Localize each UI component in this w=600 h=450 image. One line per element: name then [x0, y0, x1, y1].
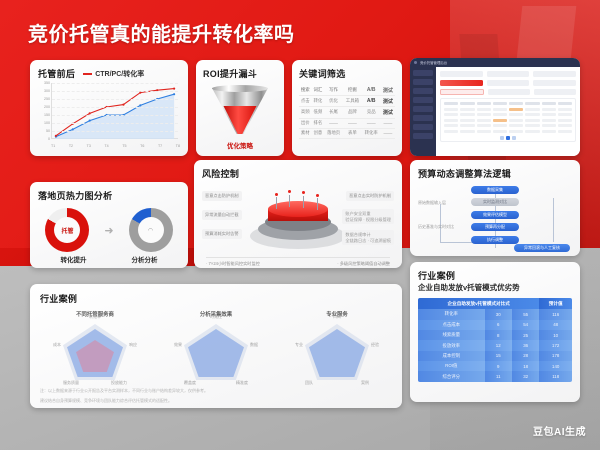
- table-cell: 落地页: [324, 128, 343, 138]
- table-cell: 8: [485, 330, 512, 340]
- arrow-right-icon: ➜: [104, 224, 113, 237]
- risk-label-right-1: 恶意点击实时防护机制: [346, 191, 394, 201]
- dashboard-window-title: 竞价托管管理后台: [420, 60, 447, 65]
- card-budget-algorithm: 预算动态调整算法逻辑 数据采集 实时监测对比 效果评估模型 预算再分配 执行调整…: [410, 160, 580, 256]
- table-cell: 高频: [299, 107, 312, 118]
- table-cell: 12: [485, 340, 512, 350]
- radar-chart: 不同托管服务商成本响应服务质量投放能力转化率: [40, 310, 150, 384]
- page-title: 竞价托管真的能提升转化率吗: [28, 18, 295, 47]
- flow-node-5[interactable]: 执行调整: [471, 236, 519, 244]
- radar-grid: [57, 320, 133, 384]
- radar-series-primary: [188, 329, 244, 377]
- y-tick: 50: [46, 129, 50, 133]
- radar-polygon-area: 效果数据覆盖度精准度时效性: [178, 320, 254, 384]
- page-button[interactable]: [512, 136, 516, 140]
- table-row[interactable]: [444, 124, 572, 127]
- radar-grid: [299, 320, 375, 384]
- risk-footer-left: · 7×24小时智能风控实时监控: [206, 261, 260, 267]
- radar-row: 不同托管服务商成本响应服务质量投放能力转化率分析采集效果效果数据覆盖度精准度时效…: [40, 310, 392, 384]
- radar-axis-label: 响应: [129, 342, 137, 348]
- table-cell: ——: [343, 118, 362, 128]
- table-cell: 创意: [312, 128, 325, 138]
- table-row: 点击成本65448: [418, 320, 572, 330]
- line-chart-title: 托管前后: [38, 67, 75, 80]
- table-row: 线索质量82510: [418, 330, 572, 340]
- table-cell: 转化率: [418, 309, 485, 319]
- flow-node-1[interactable]: 数据采集: [471, 186, 519, 194]
- radar-axis-label: 效果: [174, 342, 182, 348]
- radar-axis-label: 数据: [250, 342, 258, 348]
- table-cell: 18: [512, 361, 539, 371]
- card-risk-control: 风险控制 恶意点击防护机制 异常流量自动拦截 预算消耗实时告警 恶意点击实时防护…: [194, 160, 402, 268]
- y-tick: 250: [44, 97, 50, 101]
- table-cell: 测试: [381, 107, 395, 118]
- highlight-chip[interactable]: [440, 80, 483, 86]
- table-row[interactable]: [444, 119, 572, 122]
- table-row: 点击转化优化工具箱A/B测试: [299, 96, 395, 107]
- table-header-row: 企业自助发放v托管模式对比式预计值: [418, 298, 572, 309]
- data-point: [173, 88, 175, 90]
- pagination[interactable]: [444, 136, 572, 140]
- funnel-fill-icon: [224, 106, 257, 134]
- line-chart-plot: 350300250200150100500 T1T2T3T4T5T6T7T8: [38, 83, 180, 147]
- donut-caption-right: 分析分析: [132, 254, 158, 264]
- sidebar-item[interactable]: [413, 133, 433, 139]
- flow-node-2[interactable]: 实时监测对比: [471, 198, 519, 206]
- card-heatmap-analysis: 落地页热力图分析 托管 ➜ ◠ 转化提升 分析分析: [30, 182, 188, 268]
- table-cell: 48: [539, 320, 572, 330]
- table-cell: 出价: [299, 118, 312, 128]
- radar-polygon-area: 专业经验团队案例口碑: [299, 320, 375, 384]
- radar-axis-label: 精准度: [236, 380, 248, 386]
- funnel-graphic: 优化策略: [203, 84, 277, 152]
- risk-diagram: 恶意点击防护机制 异常流量自动拦截 预算消耗实时告警 恶意点击实时防护机制 账户…: [202, 183, 394, 267]
- dashboard-sidebar[interactable]: [410, 67, 436, 156]
- filter-chip[interactable]: [487, 71, 530, 77]
- table-cell: 10: [539, 330, 572, 340]
- table-row: 综合评分1132118: [418, 371, 572, 381]
- table-cell: 工具箱: [343, 96, 362, 107]
- table-cell: 172: [539, 340, 572, 350]
- flow-node-side[interactable]: 异常回滚与人工复核: [514, 244, 570, 252]
- flow-connector-right: [553, 198, 554, 242]
- card-dashboard-screenshot: 竞价托管管理后台: [410, 58, 580, 156]
- y-tick: 200: [44, 105, 50, 109]
- table-cell: 品牌: [343, 107, 362, 118]
- sidebar-item[interactable]: [413, 88, 433, 94]
- radar-axis-label: 服务质量: [63, 380, 79, 386]
- x-tick: T4: [104, 144, 108, 148]
- filter-chip[interactable]: [534, 89, 576, 95]
- radar-chart: 分析采集效果效果数据覆盖度精准度时效性: [161, 310, 271, 384]
- watermark: 豆包AI生成: [533, 423, 586, 438]
- table-row: 转化率3055116: [418, 309, 572, 319]
- table-row: ROI值918140: [418, 361, 572, 371]
- funnel-rim-icon: [212, 85, 268, 92]
- data-point: [55, 135, 57, 137]
- table-cell: 36: [512, 340, 539, 350]
- x-tick: T8: [176, 144, 180, 148]
- dashboard-data-table: [440, 98, 576, 142]
- table-row[interactable]: [444, 108, 572, 111]
- table-row: 搜索词汇写作挖掘A/B测试: [299, 85, 395, 96]
- table-cell: 9: [485, 361, 512, 371]
- filter-chip[interactable]: [440, 71, 483, 77]
- table-row[interactable]: [444, 113, 572, 116]
- radar-axis-label: 成本: [53, 342, 61, 348]
- x-tick: T1: [51, 144, 55, 148]
- keyword-title: 关键词筛选: [299, 67, 395, 80]
- flow-note-1: 原始数据输入层: [418, 200, 446, 206]
- risk-footer-right: · 多级风控策略阈值自动调整: [337, 261, 390, 267]
- table-cell: 25: [512, 330, 539, 340]
- table-cell: 测试: [381, 96, 395, 107]
- page-button-active[interactable]: [506, 136, 510, 140]
- radar-axis-label: 团队: [305, 380, 313, 386]
- dashboard-main: [436, 67, 580, 156]
- table-cell: 6: [485, 320, 512, 330]
- table-cell: 55: [512, 309, 539, 319]
- industry-table-subtitle: 企业自助发放v托管模式优劣势: [418, 282, 572, 293]
- data-point: [89, 120, 91, 122]
- table-cell: 测试: [381, 85, 395, 96]
- funnel-title: ROI提升漏斗: [203, 67, 277, 80]
- table-cell: ROI值: [418, 361, 485, 371]
- dashboard-titlebar: 竞价托管管理后台: [410, 58, 580, 67]
- table-cell: ——: [381, 118, 395, 128]
- radar-series-primary: [309, 329, 365, 377]
- dashboard-highlight-row-2[interactable]: [440, 89, 576, 95]
- donut-captions: 转化提升 分析分析: [38, 254, 180, 264]
- table-cell: 综合评分: [418, 371, 485, 381]
- risk-label-left-3: 预算消耗实时告警: [202, 229, 242, 239]
- radar-axis-label: 专业: [295, 342, 303, 348]
- table-cell: 点击成本: [418, 320, 485, 330]
- table-header-cell: 企业自助发放v托管模式对比式: [418, 298, 539, 309]
- line-chart-legend: CTR/PC/转化率: [83, 69, 144, 79]
- risk-pins: [272, 187, 324, 211]
- donut-caption-left: 转化提升: [61, 254, 87, 264]
- risk-label-left-2: 异常流量自动拦截: [202, 210, 242, 220]
- x-tick: T6: [140, 144, 144, 148]
- window-dot-icon: [414, 61, 417, 64]
- donut-row: 托管 ➜ ◠: [38, 208, 180, 252]
- dashboard-body: [410, 67, 580, 156]
- line-chart-header: 托管前后 CTR/PC/转化率: [38, 67, 180, 80]
- table-row: 素材创意落地页表单转化率——: [299, 128, 395, 138]
- table-cell: 54: [512, 320, 539, 330]
- y-axis-ticks: 350300250200150100500: [38, 83, 50, 139]
- table-cell: 116: [539, 309, 572, 319]
- card-radar-cases: 行业案例 不同托管服务商成本响应服务质量投放能力转化率分析采集效果效果数据覆盖度…: [30, 284, 402, 408]
- risk-footer: · 7×24小时智能风控实时监控 · 多级风控策略阈值自动调整: [206, 257, 390, 267]
- card-industry-table: 行业案例 企业自助发放v托管模式优劣势 企业自助发放v托管模式对比式预计值转化率…: [410, 262, 580, 402]
- chart-gridlines: [51, 83, 178, 139]
- radar-card-title: 行业案例: [40, 292, 392, 305]
- donut-chart-analysis: ◠: [129, 208, 173, 252]
- table-cell: 投放效率: [418, 340, 485, 350]
- heatmap-title: 落地页热力图分析: [38, 189, 180, 202]
- table-cell: 11: [485, 371, 512, 381]
- radar-axis-label: 时效性: [210, 314, 222, 320]
- table-cell: 搜索: [299, 85, 312, 96]
- data-point: [173, 93, 175, 95]
- donut-center-icon: ◠: [138, 217, 164, 243]
- sidebar-item[interactable]: [413, 79, 433, 85]
- table-cell: A/B: [362, 85, 381, 96]
- radar-axis-label: 口碑: [333, 314, 341, 320]
- table-row: 投放效率1236172: [418, 340, 572, 350]
- table-row[interactable]: [444, 130, 572, 133]
- y-tick: 150: [44, 113, 50, 117]
- table-cell: 178: [539, 351, 572, 361]
- card-keyword-filter: 关键词筛选 搜索词汇写作挖掘A/B测试点击转化优化工具箱A/B测试高频低频长尾品…: [292, 60, 402, 156]
- page-button[interactable]: [500, 136, 504, 140]
- dashboard-highlight-row[interactable]: [440, 80, 576, 86]
- flow-note-2: 历史基准与实时对比: [418, 224, 454, 230]
- y-tick: 300: [44, 89, 50, 93]
- table-row: 成本控制1528178: [418, 351, 572, 361]
- table-cell: 转化: [312, 96, 325, 107]
- table-cell: 写作: [324, 85, 343, 96]
- table-cell: ——: [381, 128, 395, 138]
- radar-polygon-area: 成本响应服务质量投放能力转化率: [57, 320, 133, 384]
- table-cell: 点击: [299, 96, 312, 107]
- table-cell: 素材: [299, 128, 312, 138]
- poster-canvas: 竞价托管真的能提升转化率吗 托管前后 CTR/PC/转化率 3503002502…: [0, 0, 600, 450]
- risk-label-left-1: 恶意点击防护机制: [202, 191, 242, 201]
- x-tick: T5: [122, 144, 126, 148]
- y-tick: 350: [44, 81, 50, 85]
- keyword-table: 搜索词汇写作挖掘A/B测试点击转化优化工具箱A/B测试高频低频长尾品牌竞品测试出…: [299, 85, 395, 139]
- flow-node-4[interactable]: 预算再分配: [471, 223, 519, 231]
- industry-comparison-table: 企业自助发放v托管模式对比式预计值转化率3055116点击成本65448线索质量…: [418, 298, 572, 382]
- table-cell: 词汇: [312, 85, 325, 96]
- x-tick: T7: [158, 144, 162, 148]
- x-axis-ticks: T1T2T3T4T5T6T7T8: [51, 144, 180, 148]
- table-cell: 140: [539, 361, 572, 371]
- table-cell: 线索质量: [418, 330, 485, 340]
- table-header-cell: 预计值: [539, 298, 572, 309]
- x-tick: T3: [87, 144, 91, 148]
- table-header-row: [444, 102, 572, 105]
- filter-chip[interactable]: [488, 89, 530, 95]
- y-tick: 0: [48, 137, 50, 141]
- radar-grid: [178, 320, 254, 384]
- table-cell: ——: [362, 118, 381, 128]
- highlight-chip-light[interactable]: [440, 89, 484, 95]
- table-cell: 转化率: [362, 128, 381, 138]
- table-cell: 28: [512, 351, 539, 361]
- sidebar-item[interactable]: [413, 124, 433, 130]
- card-roi-funnel: ROI提升漏斗 优化策略: [196, 60, 284, 156]
- radar-footnote-2: 建议结合自身预算规模、竞争环境与团队能力综合评估托管模式的适配性。: [40, 398, 392, 404]
- table-cell: 成本控制: [418, 351, 485, 361]
- filter-chip[interactable]: [533, 80, 576, 86]
- filter-chip[interactable]: [533, 71, 576, 77]
- table-cell: 长尾: [324, 107, 343, 118]
- legend-label: CTR/PC/转化率: [95, 69, 144, 79]
- filter-chip[interactable]: [487, 80, 530, 86]
- table-cell: ——: [324, 118, 343, 128]
- flow-connector-left: [440, 204, 441, 242]
- sidebar-item[interactable]: [413, 70, 433, 76]
- donut-center-label: 托管: [54, 217, 80, 243]
- table-row: 高频低频长尾品牌竞品测试: [299, 107, 395, 118]
- risk-title: 风险控制: [202, 167, 394, 180]
- table-cell: 15: [485, 351, 512, 361]
- data-point: [122, 104, 124, 106]
- radar-chart: 专业服务专业经验团队案例口碑: [282, 310, 392, 384]
- flow-node-3[interactable]: 效果评估模型: [471, 211, 519, 219]
- table-cell: 排名: [312, 118, 325, 128]
- table-cell: 优化: [324, 96, 343, 107]
- funnel-caption: 优化策略: [227, 140, 253, 150]
- sidebar-item[interactable]: [413, 106, 433, 112]
- radar-footnote-1: 注：以上数据来源于行业公开报告及平台实测样本，不同行业与账户结构差异较大，仅供参…: [40, 388, 392, 394]
- table-cell: 32: [512, 371, 539, 381]
- table-cell: 表单: [343, 128, 362, 138]
- table-cell: 118: [539, 371, 572, 381]
- sidebar-item[interactable]: [413, 97, 433, 103]
- radar-axis-label: 覆盖度: [184, 380, 196, 386]
- radar-axis-label: 投放能力: [111, 380, 127, 386]
- table-cell: 挖掘: [343, 85, 362, 96]
- risk-label-right-2: 账户安全双重 验证保障 · 权限分级管理: [342, 209, 394, 224]
- donut-chart-conversion: 托管: [45, 208, 89, 252]
- flow-diagram: 数据采集 实时监测对比 效果评估模型 预算再分配 执行调整 异常回滚与人工复核 …: [418, 184, 572, 256]
- flow-title: 预算动态调整算法逻辑: [418, 167, 572, 180]
- table-cell: 低频: [312, 107, 325, 118]
- dashboard-filter-row[interactable]: [440, 71, 576, 77]
- radar-axis-label: 案例: [361, 380, 369, 386]
- radar-axis-label: 转化率: [89, 314, 101, 320]
- table-cell: A/B: [362, 96, 381, 107]
- table-cell: 竞品: [362, 107, 381, 118]
- table-row: 出价排名————————: [299, 118, 395, 128]
- card-line-chart: 托管前后 CTR/PC/转化率 350300250200150100500: [30, 60, 188, 156]
- sidebar-item[interactable]: [413, 115, 433, 121]
- radar-axis-label: 经验: [371, 342, 379, 348]
- legend-dash-icon: [83, 73, 92, 75]
- risk-label-right-3: 数据合规审计 全链路日志 · 可追溯留痕: [342, 230, 394, 245]
- table-cell: 30: [485, 309, 512, 319]
- y-tick: 100: [44, 121, 50, 125]
- x-tick: T2: [69, 144, 73, 148]
- industry-table-title: 行业案例: [418, 269, 572, 282]
